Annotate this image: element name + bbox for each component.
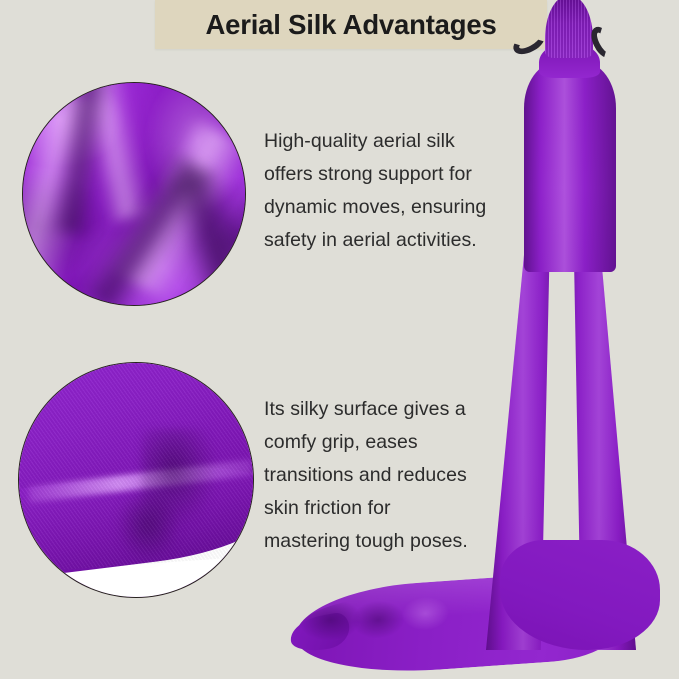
silk-gather-pleats — [545, 0, 593, 58]
photo-inner-top — [23, 83, 245, 305]
infographic-page: Aerial Silk Advantages High-quality aeri… — [0, 0, 679, 679]
photo-inner-bottom — [19, 363, 253, 597]
feature-photo-folded-silk — [18, 362, 254, 598]
silk-upper-body — [524, 62, 616, 272]
feature-photo-flowing-silk — [22, 82, 246, 306]
fabric-rib-texture — [18, 362, 254, 575]
hanging-aerial-silk-photo — [440, 0, 679, 679]
